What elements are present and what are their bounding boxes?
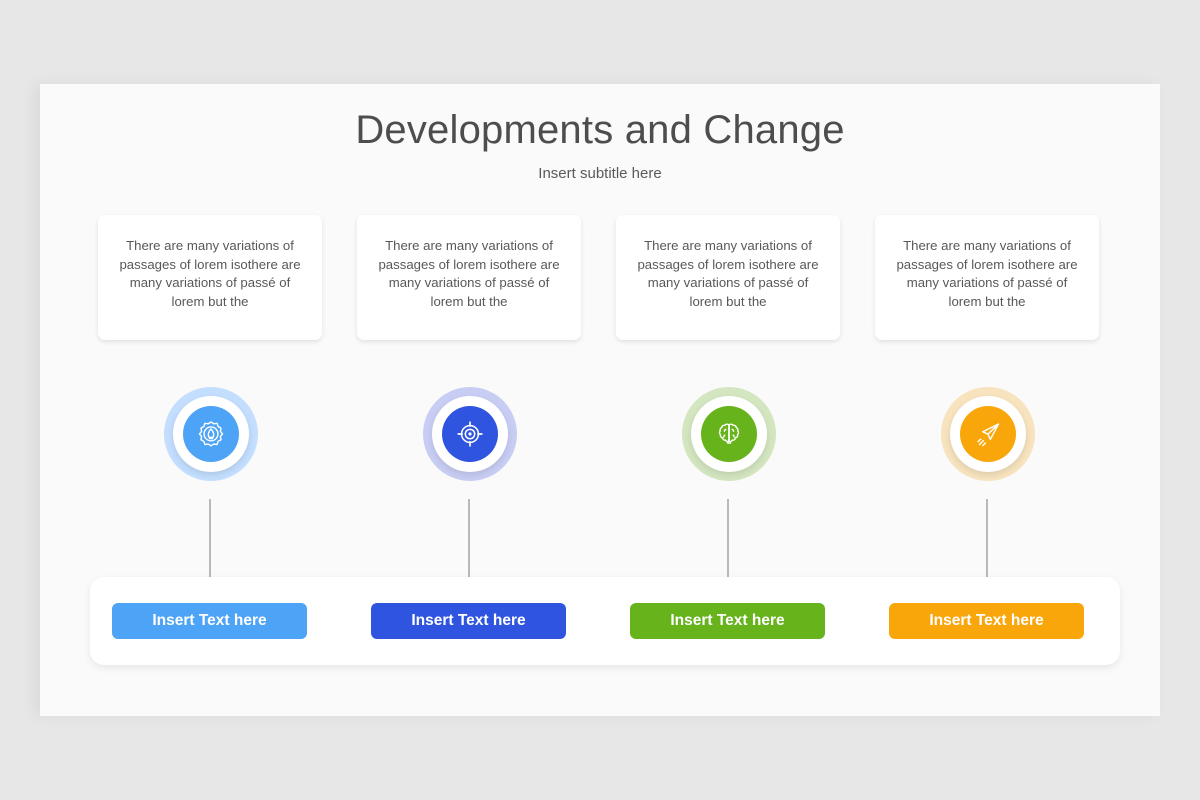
badge-core bbox=[442, 406, 498, 462]
step-badge-4 bbox=[941, 387, 1035, 481]
target-crosshair-icon bbox=[455, 419, 485, 449]
badge-core bbox=[701, 406, 757, 462]
step-badge-2 bbox=[423, 387, 517, 481]
text-card-body: There are many variations of passages of… bbox=[114, 237, 306, 311]
step-button-1[interactable]: Insert Text here bbox=[112, 603, 307, 639]
badge-core bbox=[183, 406, 239, 462]
slide-page: Developments and Change Insert subtitle … bbox=[0, 0, 1200, 800]
paper-plane-icon bbox=[973, 419, 1003, 449]
text-card-body: There are many variations of passages of… bbox=[891, 237, 1083, 311]
text-card-body: There are many variations of passages of… bbox=[373, 237, 565, 311]
text-card-row: There are many variations of passages of… bbox=[40, 215, 1160, 340]
page-title: Developments and Change bbox=[40, 108, 1160, 153]
text-card-body: There are many variations of passages of… bbox=[632, 237, 824, 311]
step-button-2[interactable]: Insert Text here bbox=[371, 603, 566, 639]
slide-canvas: Developments and Change Insert subtitle … bbox=[40, 84, 1160, 716]
text-card: There are many variations of passages of… bbox=[616, 215, 840, 340]
step-button-3[interactable]: Insert Text here bbox=[630, 603, 825, 639]
badge-core bbox=[960, 406, 1016, 462]
step-button-4[interactable]: Insert Text here bbox=[889, 603, 1084, 639]
text-card: There are many variations of passages of… bbox=[357, 215, 581, 340]
text-card: There are many variations of passages of… bbox=[98, 215, 322, 340]
brain-icon bbox=[714, 419, 744, 449]
text-card: There are many variations of passages of… bbox=[875, 215, 1099, 340]
gear-badge-idea-icon bbox=[196, 419, 226, 449]
step-badge-1 bbox=[164, 387, 258, 481]
step-badge-3 bbox=[682, 387, 776, 481]
page-subtitle: Insert subtitle here bbox=[40, 165, 1160, 182]
